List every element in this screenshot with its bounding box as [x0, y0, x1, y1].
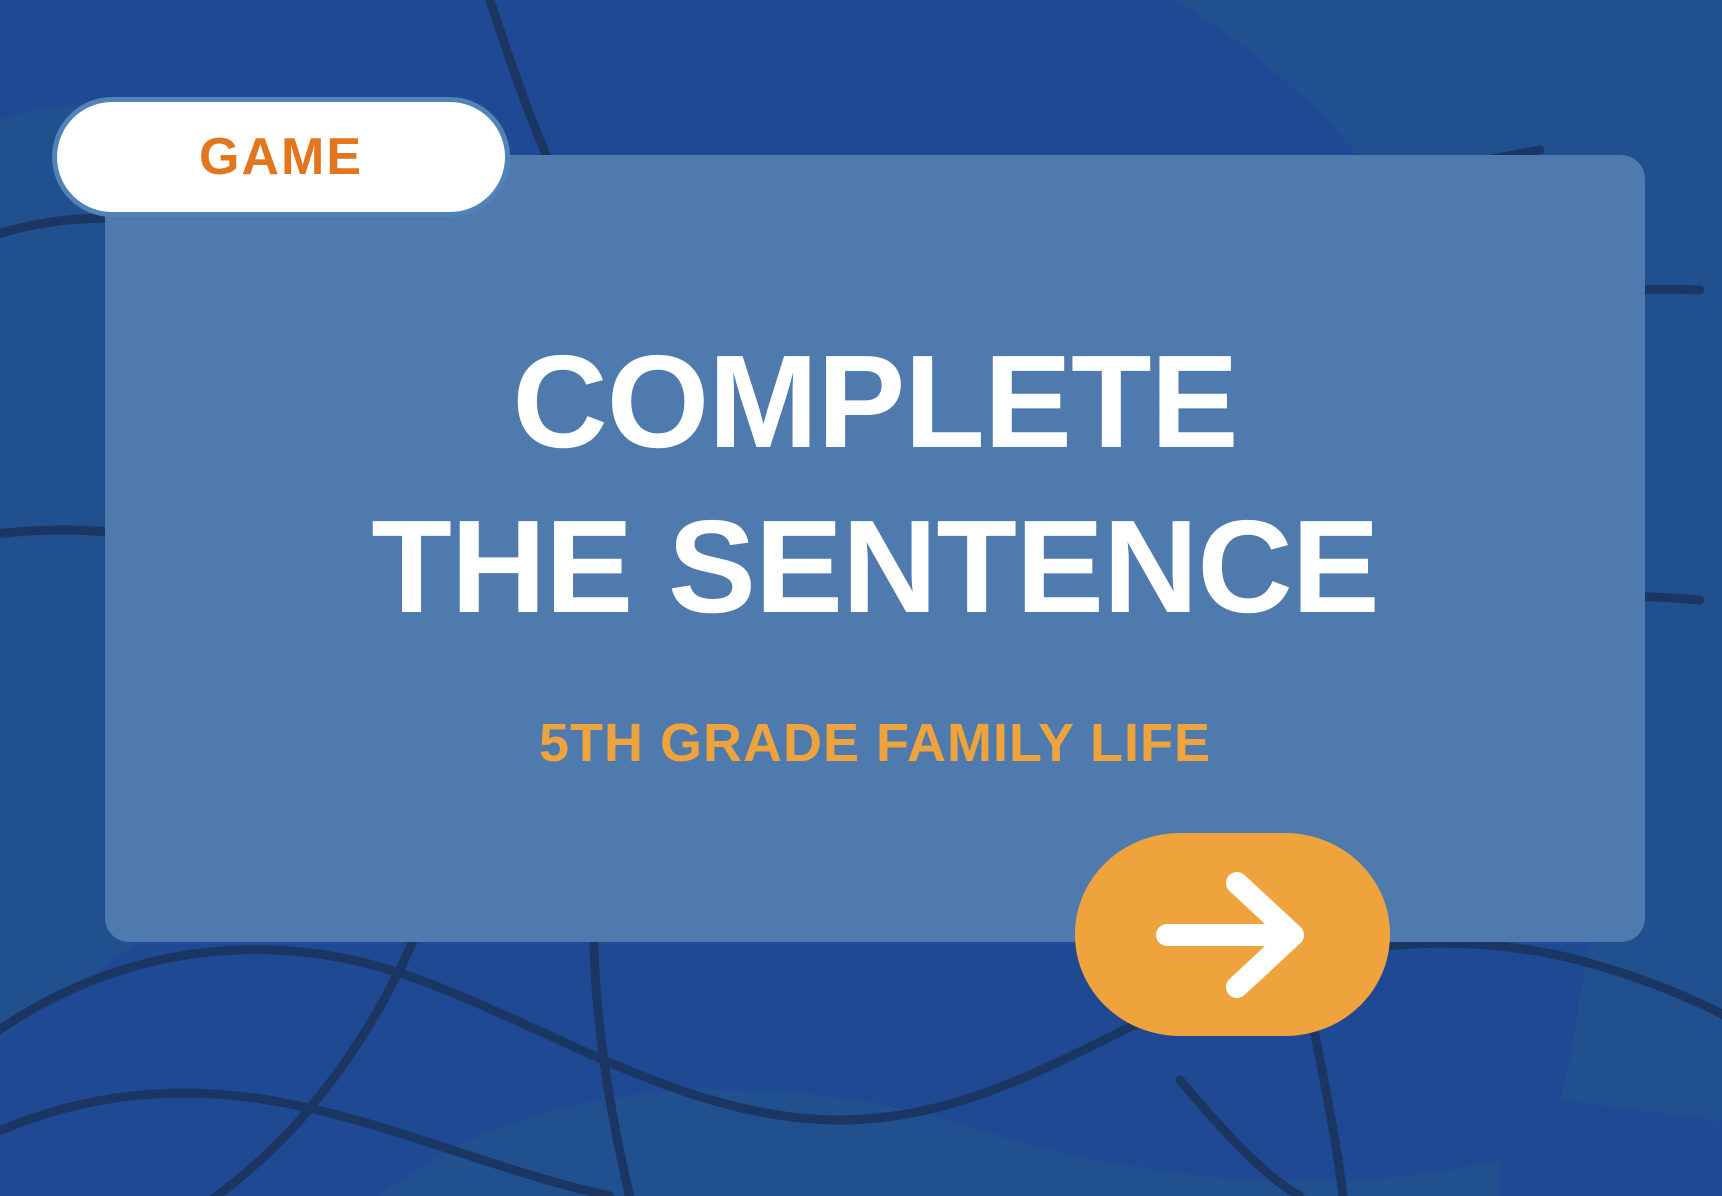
game-badge: GAME [52, 97, 510, 217]
page-title-line-1: COMPLETE [105, 337, 1645, 466]
game-badge-label: GAME [199, 131, 363, 183]
page-title-line-2: THE SENTENCE [105, 502, 1645, 631]
next-button[interactable] [1075, 833, 1390, 1036]
arrow-right-icon [1153, 869, 1313, 1001]
page-subtitle: 5TH GRADE FAMILY LIFE [105, 716, 1645, 770]
slide-card: COMPLETE THE SENTENCE 5TH GRADE FAMILY L… [105, 155, 1645, 942]
game-title-slide: COMPLETE THE SENTENCE 5TH GRADE FAMILY L… [0, 0, 1722, 1196]
card-content: COMPLETE THE SENTENCE 5TH GRADE FAMILY L… [105, 155, 1645, 770]
